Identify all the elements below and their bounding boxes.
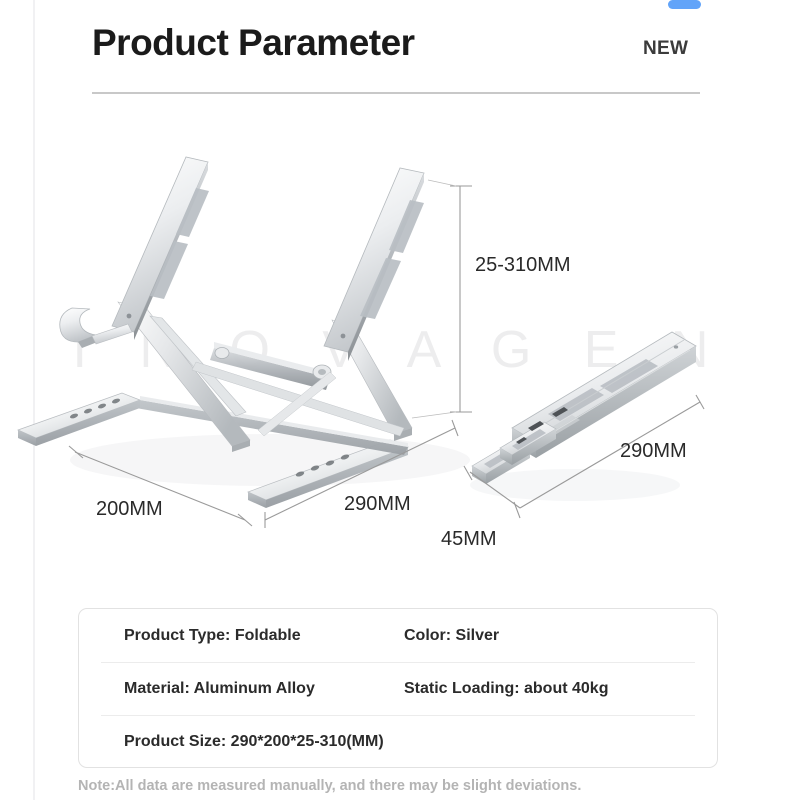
dimension-label-folded-thickness: 45MM (441, 528, 497, 551)
dimension-label-width: 200MM (96, 498, 163, 521)
spec-product-size: Product Size: 290*200*25-310(MM) (79, 733, 384, 751)
stand-laptop-lip (60, 308, 100, 348)
stand-rear-foot (18, 393, 140, 446)
new-badge: NEW (643, 38, 688, 60)
accent-pill (668, 0, 701, 9)
stand-top-arm-rear (112, 157, 209, 340)
stand-top-arm-front (324, 168, 424, 361)
table-row: Material: Aluminum Alloy Static Loading:… (79, 662, 717, 715)
spec-material: Material: Aluminum Alloy (79, 680, 404, 698)
page-title: Product Parameter (92, 22, 415, 64)
dimension-label-folded-length: 290MM (620, 440, 687, 463)
spec-product-type: Product Type: Foldable (79, 627, 404, 645)
stand-hinge-cluster (210, 342, 331, 390)
spec-static-loading: Static Loading: about 40kg (404, 680, 717, 698)
table-row: Product Size: 290*200*25-310(MM) (79, 715, 717, 768)
disclaimer-note: Note:All data are measured manually, and… (78, 778, 581, 794)
specification-table: Product Type: Foldable Color: Silver Mat… (78, 608, 718, 768)
spec-color: Color: Silver (404, 627, 717, 645)
table-row: Product Type: Foldable Color: Silver (79, 609, 717, 662)
product-parameter-page: Product Parameter NEW I N O V A G E N (0, 0, 800, 800)
title-divider (92, 92, 700, 94)
dimension-label-height: 25-310MM (475, 254, 571, 277)
dimension-label-depth: 290MM (344, 493, 411, 516)
